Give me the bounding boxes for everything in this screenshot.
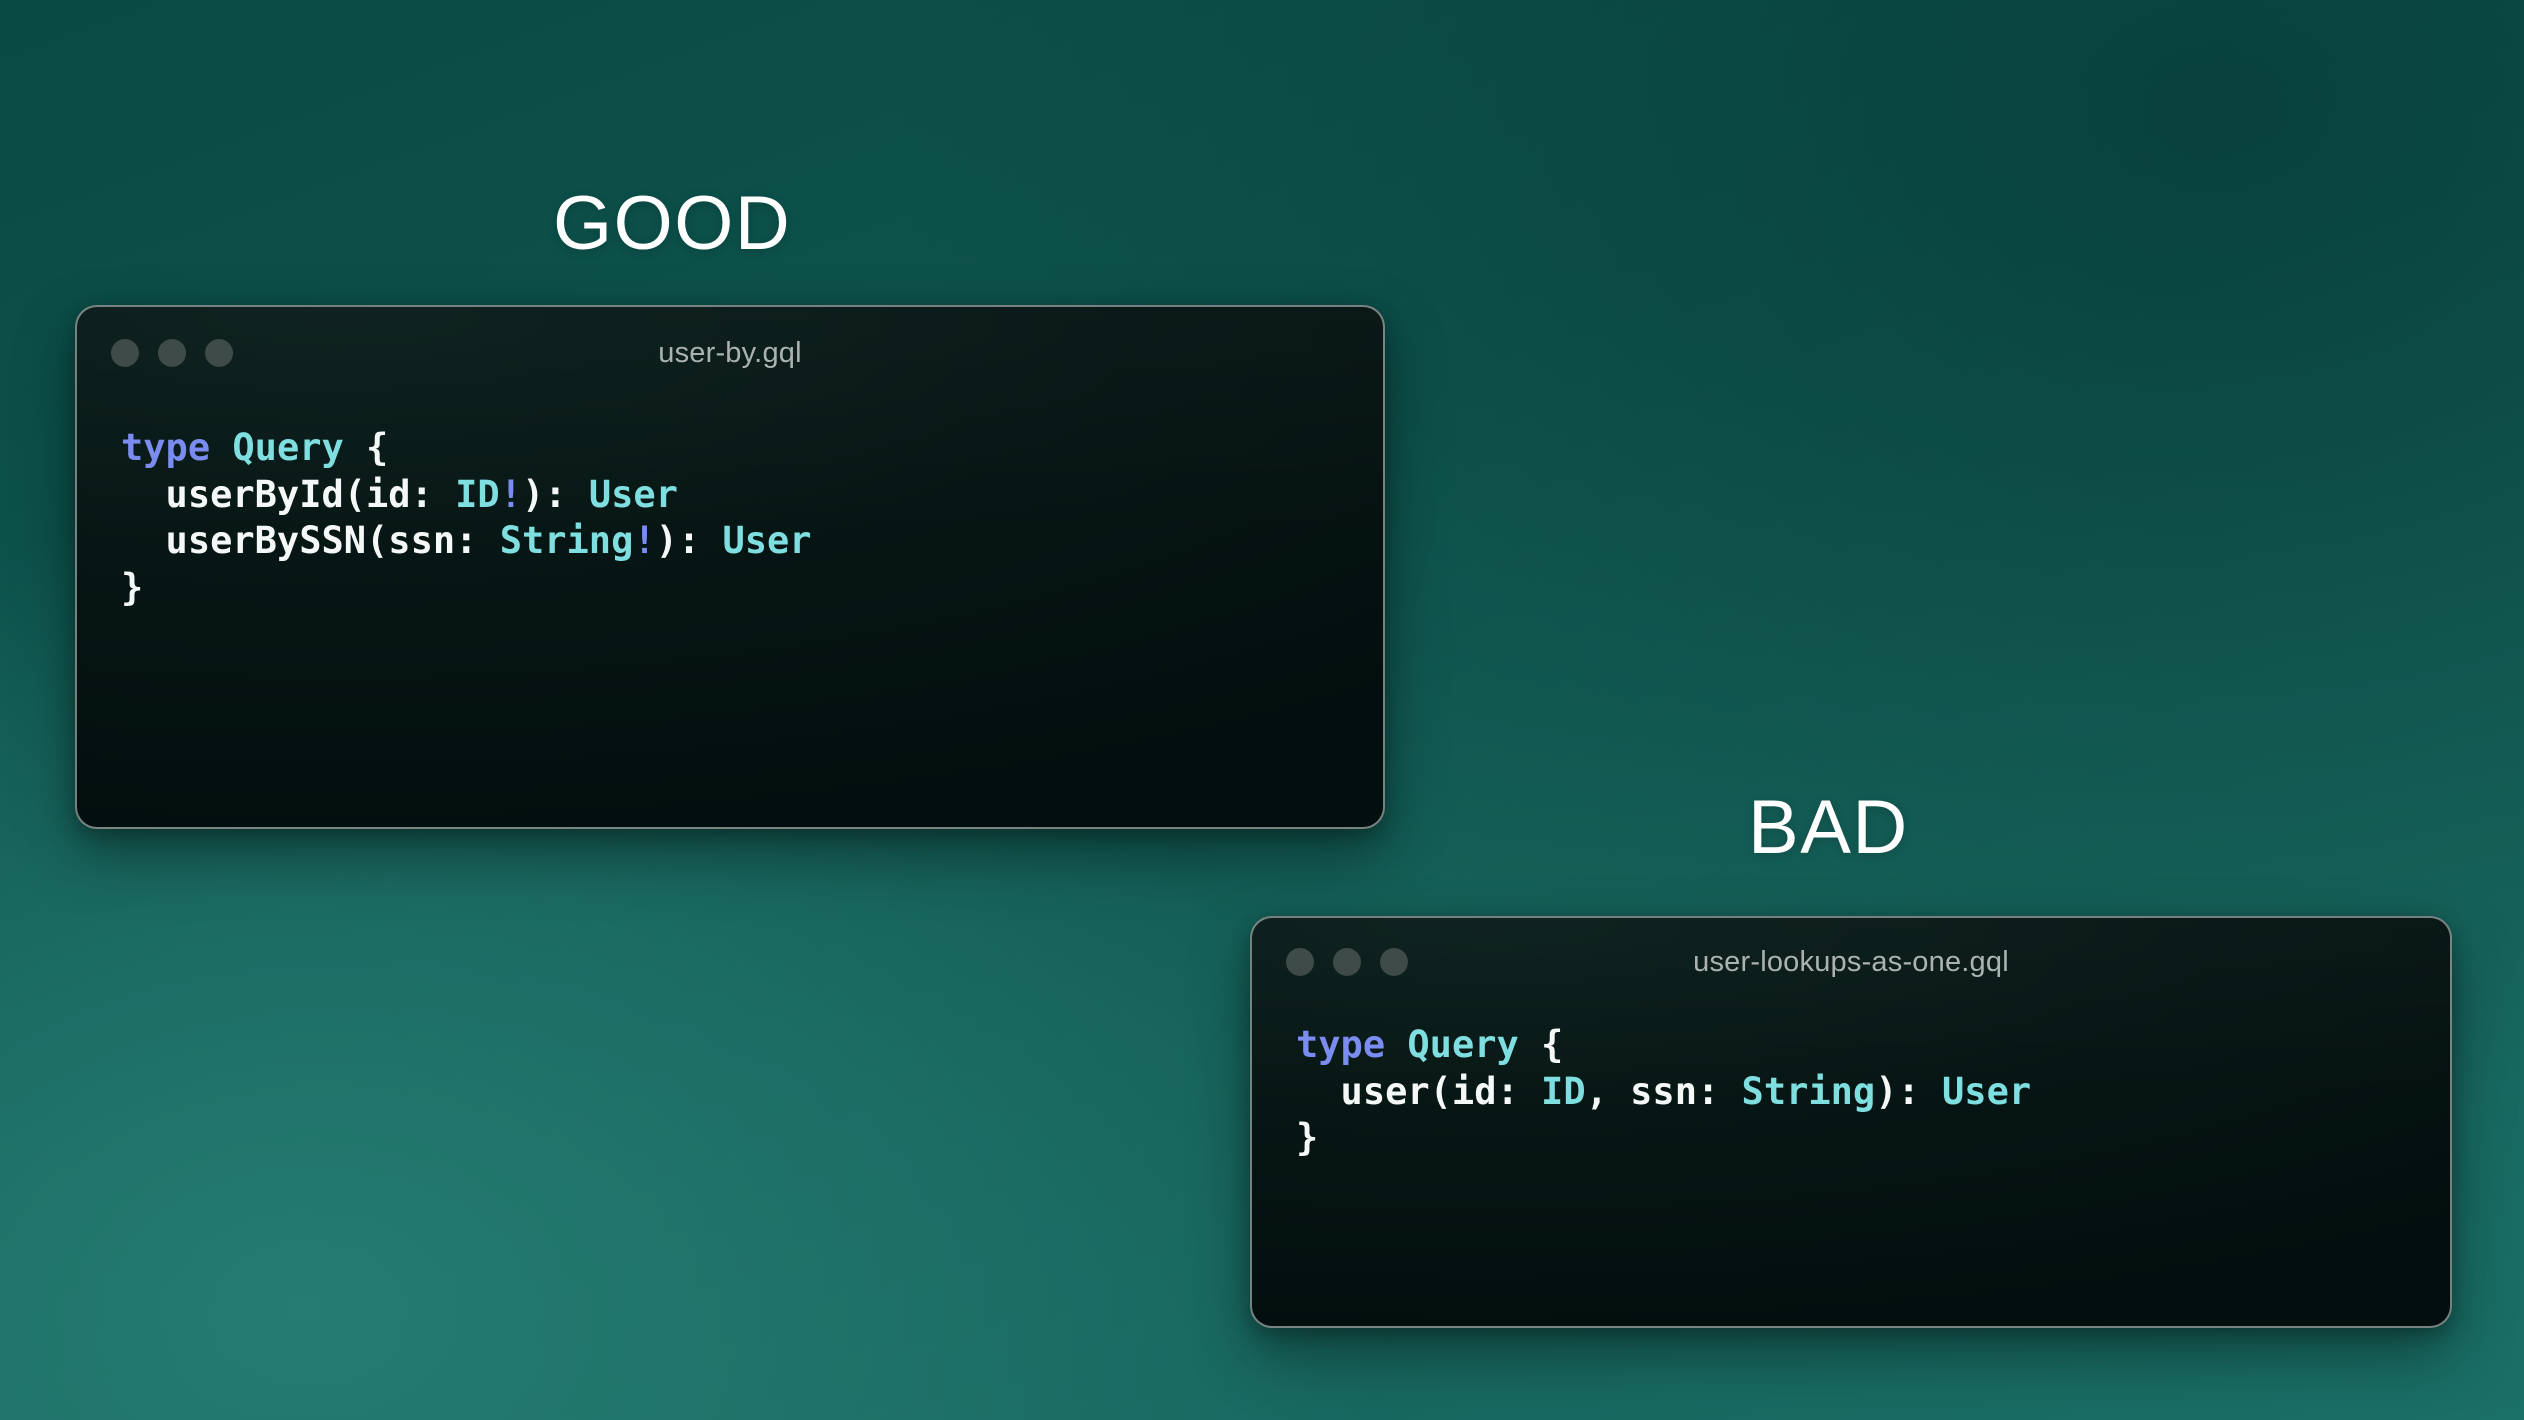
code-line: }	[1296, 1115, 2406, 1162]
code-token	[1385, 1023, 1407, 1066]
code-window-bad: user-lookups-as-one.gql type Query { use…	[1250, 916, 2452, 1328]
traffic-lights-good	[111, 339, 233, 367]
code-token: ):	[1875, 1070, 1942, 1113]
maximize-dot-icon[interactable]	[1380, 948, 1408, 976]
code-token: Query	[232, 426, 343, 469]
section-label-bad: BAD	[1748, 790, 1909, 866]
section-label-good: GOOD	[553, 186, 791, 262]
code-window-good: user-by.gql type Query { userById(id: ID…	[75, 305, 1385, 829]
traffic-lights-bad	[1286, 948, 1408, 976]
close-dot-icon[interactable]	[1286, 948, 1314, 976]
minimize-dot-icon[interactable]	[158, 339, 186, 367]
canvas-background: GOOD user-by.gql type Query { userById(i…	[0, 0, 2524, 1420]
code-token: user(id:	[1296, 1070, 1541, 1113]
code-token: }	[1296, 1116, 1318, 1159]
code-line: userById(id: ID!): User	[121, 472, 1339, 519]
code-token: type	[121, 426, 210, 469]
code-token: ):	[522, 473, 589, 516]
window-titlebar-bad: user-lookups-as-one.gql	[1252, 918, 2450, 1006]
code-line: }	[121, 565, 1339, 612]
code-token: !	[500, 473, 522, 516]
code-token: {	[344, 426, 389, 469]
code-token: String	[500, 519, 634, 562]
code-token	[210, 426, 232, 469]
code-block-good: type Query { userById(id: ID!): User use…	[77, 399, 1383, 651]
window-filename-bad: user-lookups-as-one.gql	[1252, 946, 2450, 979]
code-line: type Query {	[1296, 1022, 2406, 1069]
close-dot-icon[interactable]	[111, 339, 139, 367]
code-token: ):	[656, 519, 723, 562]
window-filename-good: user-by.gql	[77, 337, 1383, 370]
code-line: userBySSN(ssn: String!): User	[121, 518, 1339, 565]
maximize-dot-icon[interactable]	[205, 339, 233, 367]
code-token: User	[722, 519, 811, 562]
code-token: ID	[455, 473, 500, 516]
code-token: userBySSN(ssn:	[121, 519, 500, 562]
code-token: , ssn:	[1586, 1070, 1742, 1113]
code-block-bad: type Query { user(id: ID, ssn: String): …	[1252, 1006, 2450, 1202]
code-token: type	[1296, 1023, 1385, 1066]
code-line: user(id: ID, ssn: String): User	[1296, 1069, 2406, 1116]
code-token: String	[1742, 1070, 1876, 1113]
window-titlebar-good: user-by.gql	[77, 307, 1383, 399]
code-token: User	[589, 473, 678, 516]
code-token: !	[633, 519, 655, 562]
code-token: Query	[1407, 1023, 1518, 1066]
code-line: type Query {	[121, 425, 1339, 472]
code-token: User	[1942, 1070, 2031, 1113]
code-token: {	[1519, 1023, 1564, 1066]
code-token: userById(id:	[121, 473, 455, 516]
minimize-dot-icon[interactable]	[1333, 948, 1361, 976]
code-token: }	[121, 566, 143, 609]
code-token: ID	[1541, 1070, 1586, 1113]
